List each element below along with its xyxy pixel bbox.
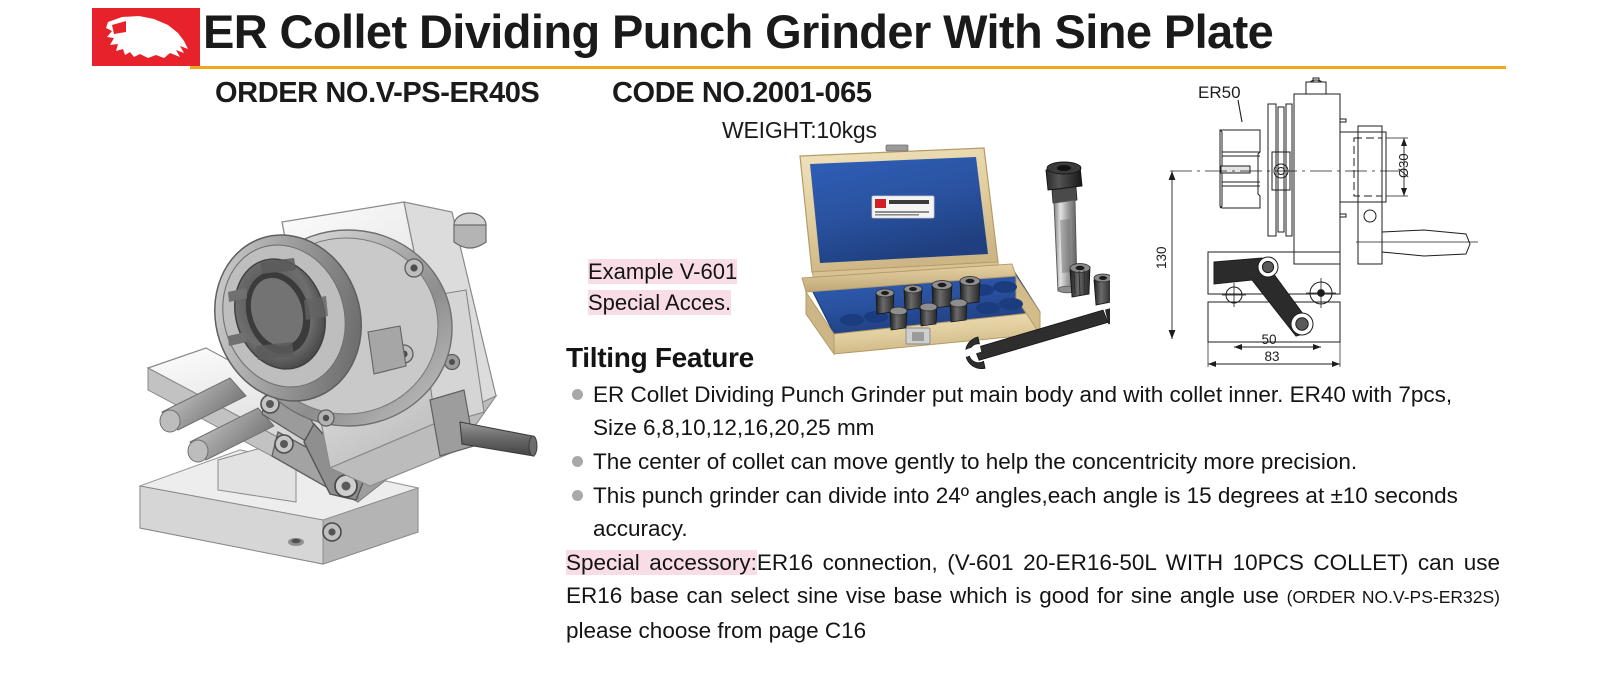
bullet-icon bbox=[572, 389, 583, 400]
feature-text: This punch grinder can divide into 24º a… bbox=[593, 483, 1458, 541]
feature-text: The center of collet can move gently to … bbox=[593, 449, 1357, 474]
list-item: This punch grinder can divide into 24º a… bbox=[566, 479, 1500, 545]
special-accessory-paragraph: Special accessory:ER16 connection, (V-60… bbox=[566, 546, 1500, 647]
punch-grinder-product-photo bbox=[118, 150, 548, 570]
code-number: CODE NO.2001-065 bbox=[612, 77, 872, 110]
bullet-icon bbox=[572, 490, 583, 501]
tech-label-er50: ER50 bbox=[1198, 83, 1241, 102]
title-divider-rule bbox=[190, 66, 1506, 69]
special-accessory-label: Special accessory: bbox=[566, 550, 757, 575]
feature-list: ER Collet Dividing Punch Grinder put mai… bbox=[566, 378, 1500, 545]
weight-label: WEIGHT:10kgs bbox=[722, 117, 877, 144]
special-accessory-text-part2: please choose from page C16 bbox=[566, 618, 866, 643]
feature-text: ER Collet Dividing Punch Grinder put mai… bbox=[593, 382, 1452, 440]
eagle-head-logo bbox=[92, 8, 200, 66]
example-callout-line2: Special Acces. bbox=[588, 290, 731, 315]
list-item: The center of collet can move gently to … bbox=[566, 445, 1500, 478]
technical-dimension-drawing: ER50 130 Ø30 50 83 bbox=[1150, 74, 1590, 374]
tech-label-diameter: Ø30 bbox=[1396, 153, 1411, 178]
list-item: ER Collet Dividing Punch Grinder put mai… bbox=[566, 378, 1500, 444]
tilting-feature-heading: Tilting Feature bbox=[566, 342, 1500, 374]
tech-label-height: 130 bbox=[1154, 246, 1169, 269]
product-description-block: Tilting Feature ER Collet Dividing Punch… bbox=[566, 342, 1500, 647]
page-title: ER Collet Dividing Punch Grinder With Si… bbox=[203, 4, 1273, 59]
example-accessory-callout: Example V-601 Special Acces. bbox=[588, 256, 766, 318]
bullet-icon bbox=[572, 456, 583, 467]
order-number: ORDER NO.V-PS-ER40S bbox=[215, 77, 539, 110]
special-accessory-order-note: (ORDER NO.V-PS-ER32S) bbox=[1287, 587, 1500, 607]
example-callout-line1: Example V-601 bbox=[588, 259, 737, 284]
